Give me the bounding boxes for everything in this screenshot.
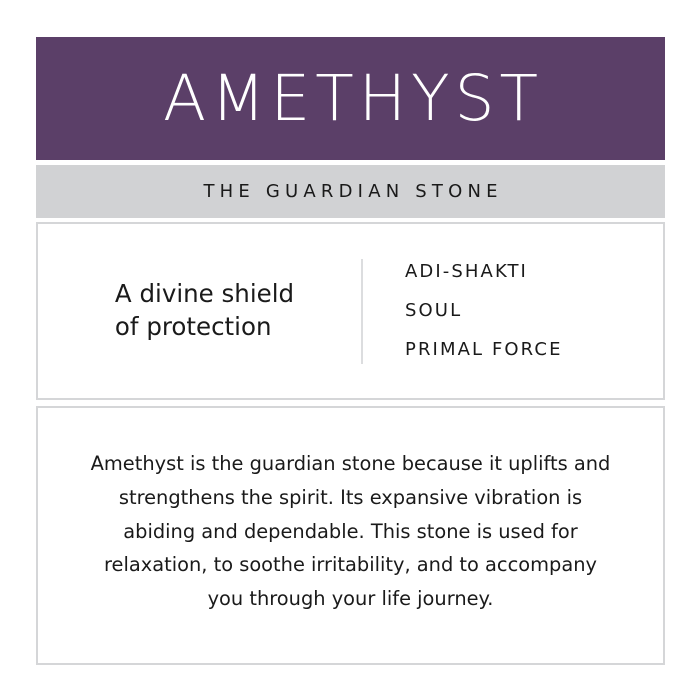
attribute-item: ADI-SHAKTI <box>405 263 663 281</box>
subtitle-banner: THE GUARDIAN STONE <box>36 165 665 218</box>
description-card: Amethyst is the guardian stone because i… <box>36 406 665 665</box>
attribute-item: SOUL <box>405 302 663 320</box>
keywords-card: A divine shield of protection ADI-SHAKTI… <box>36 222 665 400</box>
tagline-text: A divine shield of protection <box>115 278 294 344</box>
attribute-item: PRIMAL FORCE <box>405 341 663 359</box>
attributes-column: ADI-SHAKTI SOUL PRIMAL FORCE <box>363 253 663 370</box>
title-banner: AMETHYST <box>36 37 665 160</box>
stone-info-card: AMETHYST THE GUARDIAN STONE A divine shi… <box>0 0 700 700</box>
page-title: AMETHYST <box>158 67 543 130</box>
description-text: Amethyst is the guardian stone because i… <box>87 447 614 616</box>
tagline-column: A divine shield of protection <box>38 278 361 344</box>
keywords-card-inner: A divine shield of protection ADI-SHAKTI… <box>38 224 663 398</box>
page-subtitle: THE GUARDIAN STONE <box>198 183 502 201</box>
